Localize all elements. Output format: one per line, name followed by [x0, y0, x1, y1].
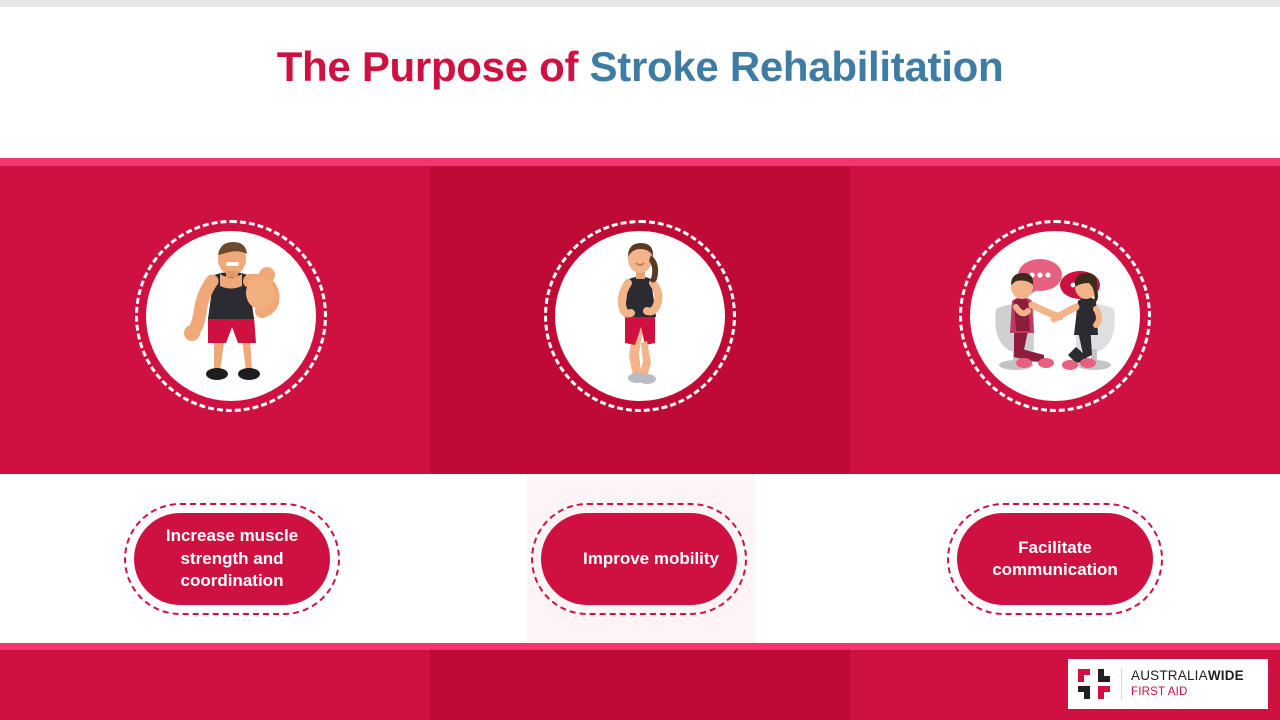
title-part-red: The Purpose of — [277, 43, 590, 90]
footer-segment-left — [0, 650, 430, 720]
australia-wide-cross-logo-mark — [1076, 667, 1112, 701]
label-pill-3-text: Facilitate communication — [957, 513, 1153, 605]
illustration-row — [0, 158, 1280, 474]
two-people-talking-illustration — [970, 231, 1140, 401]
label-pill-3[interactable]: Facilitate communication — [947, 503, 1163, 615]
label-pill-2-text: Improve mobility — [541, 513, 737, 605]
australia-wide-first-aid-logo[interactable]: AUSTRALIAWIDE FIRST AID — [1068, 659, 1268, 709]
label-row: Increase muscle strength and coordinatio… — [0, 474, 1280, 643]
label-pill-1[interactable]: Increase muscle strength and coordinatio… — [124, 503, 340, 615]
logo-text-australia: AUSTRALIA — [1131, 668, 1208, 683]
title-part-blue: Stroke Rehabilitation — [590, 43, 1004, 90]
top-grey-strip — [0, 0, 1280, 7]
logo-text-first-aid: FIRST AID — [1131, 685, 1244, 699]
page-title: The Purpose of Stroke Rehabilitation — [0, 44, 1280, 90]
logo-divider — [1121, 668, 1122, 700]
illustration-circle-3 — [959, 220, 1151, 412]
footer-segment-middle — [430, 650, 850, 720]
jogging-woman-illustration — [555, 231, 725, 401]
footer-top-pink-edge — [0, 643, 1280, 650]
label-pill-2[interactable]: Improve mobility — [531, 503, 747, 615]
slide-canvas: The Purpose of Stroke Rehabilitation — [0, 0, 1280, 720]
logo-wordmark: AUSTRALIAWIDE FIRST AID — [1131, 668, 1244, 699]
illustration-circle-2 — [544, 220, 736, 412]
label-pill-1-text: Increase muscle strength and coordinatio… — [134, 513, 330, 605]
illustration-circle-1 — [135, 220, 327, 412]
logo-text-wide: WIDE — [1208, 668, 1244, 683]
flexing-muscle-man-illustration — [146, 231, 316, 401]
